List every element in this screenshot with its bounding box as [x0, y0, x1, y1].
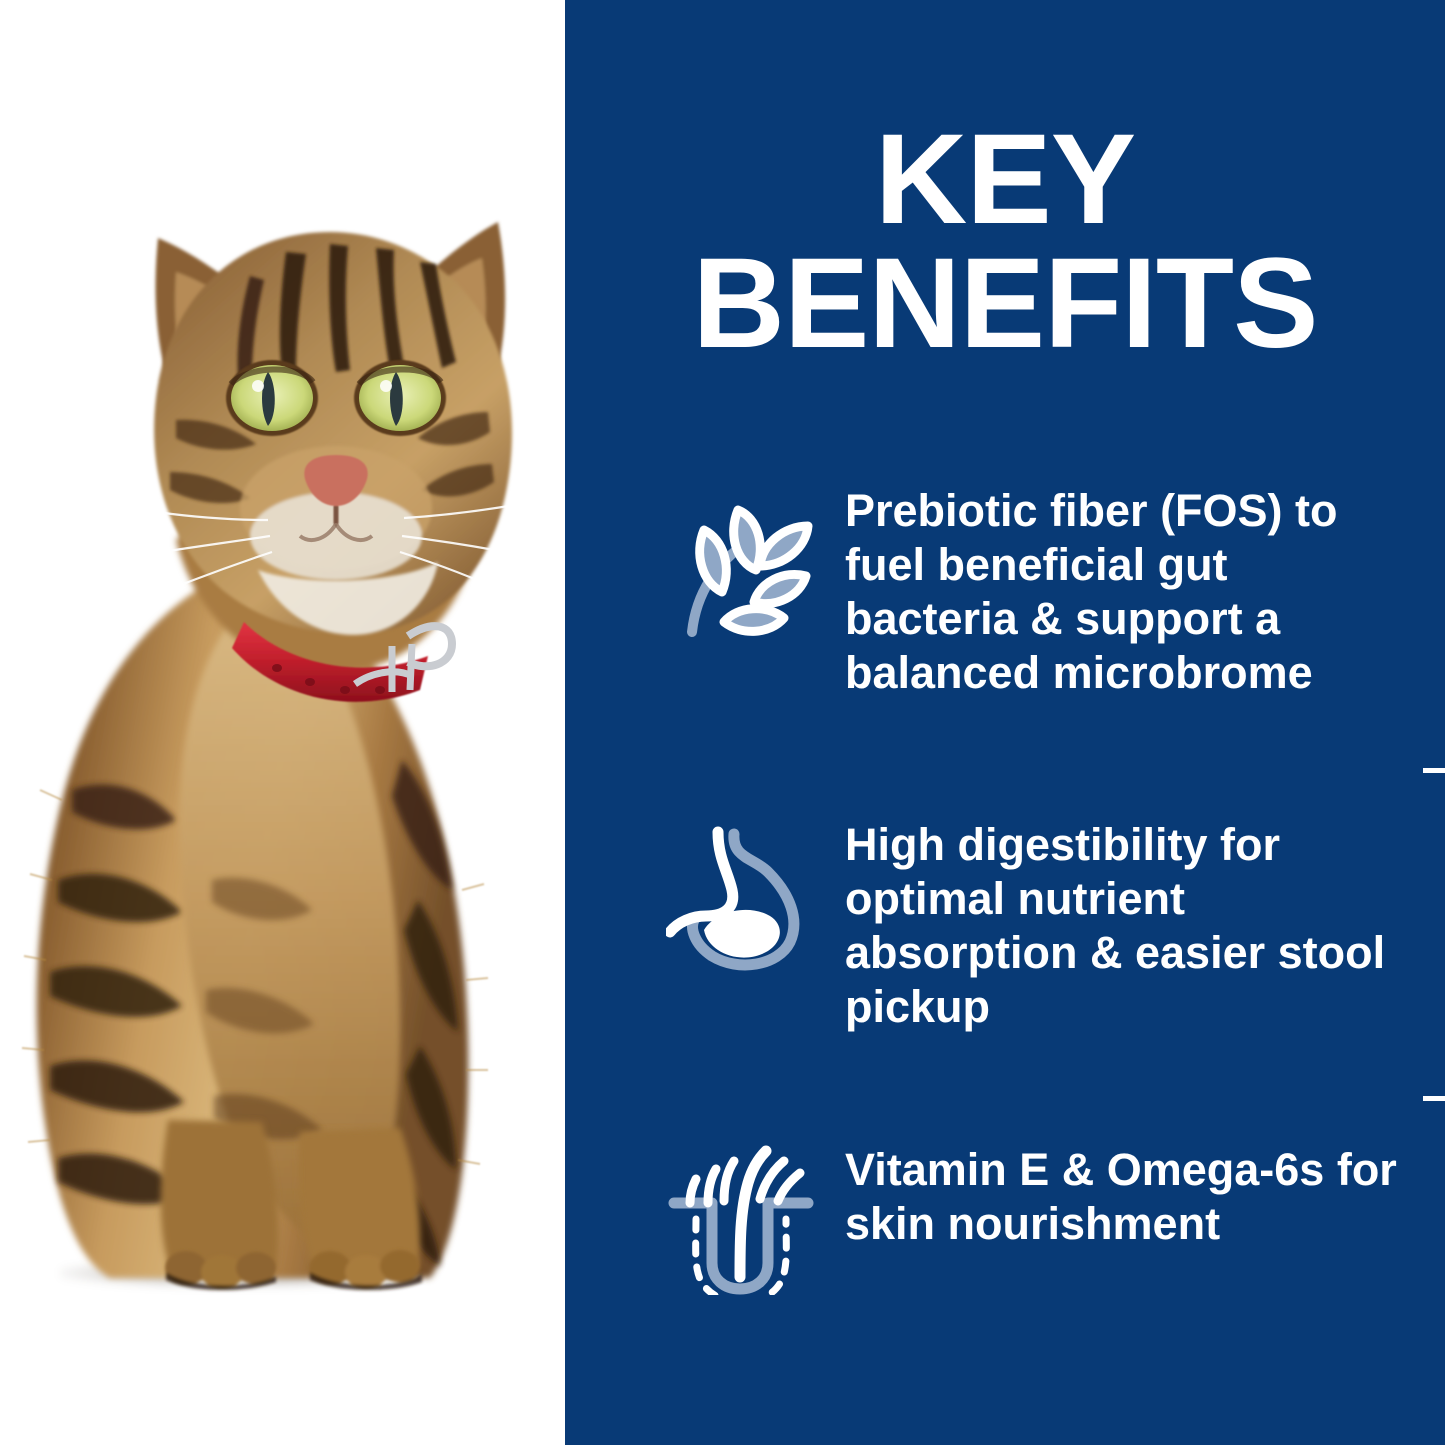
benefit-divider	[1423, 1096, 1445, 1101]
cat-photo-panel	[0, 0, 565, 1445]
benefit-text: High digestibility for optimal nutrient …	[845, 818, 1405, 1034]
benefits-panel: KEY BENEFITS	[565, 0, 1445, 1445]
benefit-item: Vitamin E & Omega-6s for skin nourishmen…	[658, 1143, 1418, 1295]
benefit-item: High digestibility for optimal nutrient …	[658, 818, 1418, 1034]
benefit-text: Prebiotic fiber (FOS) to fuel beneficial…	[845, 484, 1405, 700]
leaf-sprig-icon	[658, 484, 823, 642]
hair-follicle-icon	[658, 1143, 823, 1295]
benefit-item: Prebiotic fiber (FOS) to fuel beneficial…	[658, 484, 1418, 700]
key-benefits-graphic: KEY BENEFITS	[0, 0, 1445, 1445]
page-title: KEY BENEFITS	[565, 118, 1445, 366]
benefit-divider	[1423, 768, 1445, 773]
cat-image	[0, 0, 565, 1445]
benefit-text: Vitamin E & Omega-6s for skin nourishmen…	[845, 1143, 1405, 1251]
stomach-icon	[658, 818, 823, 974]
cat-illustration	[0, 0, 565, 1445]
